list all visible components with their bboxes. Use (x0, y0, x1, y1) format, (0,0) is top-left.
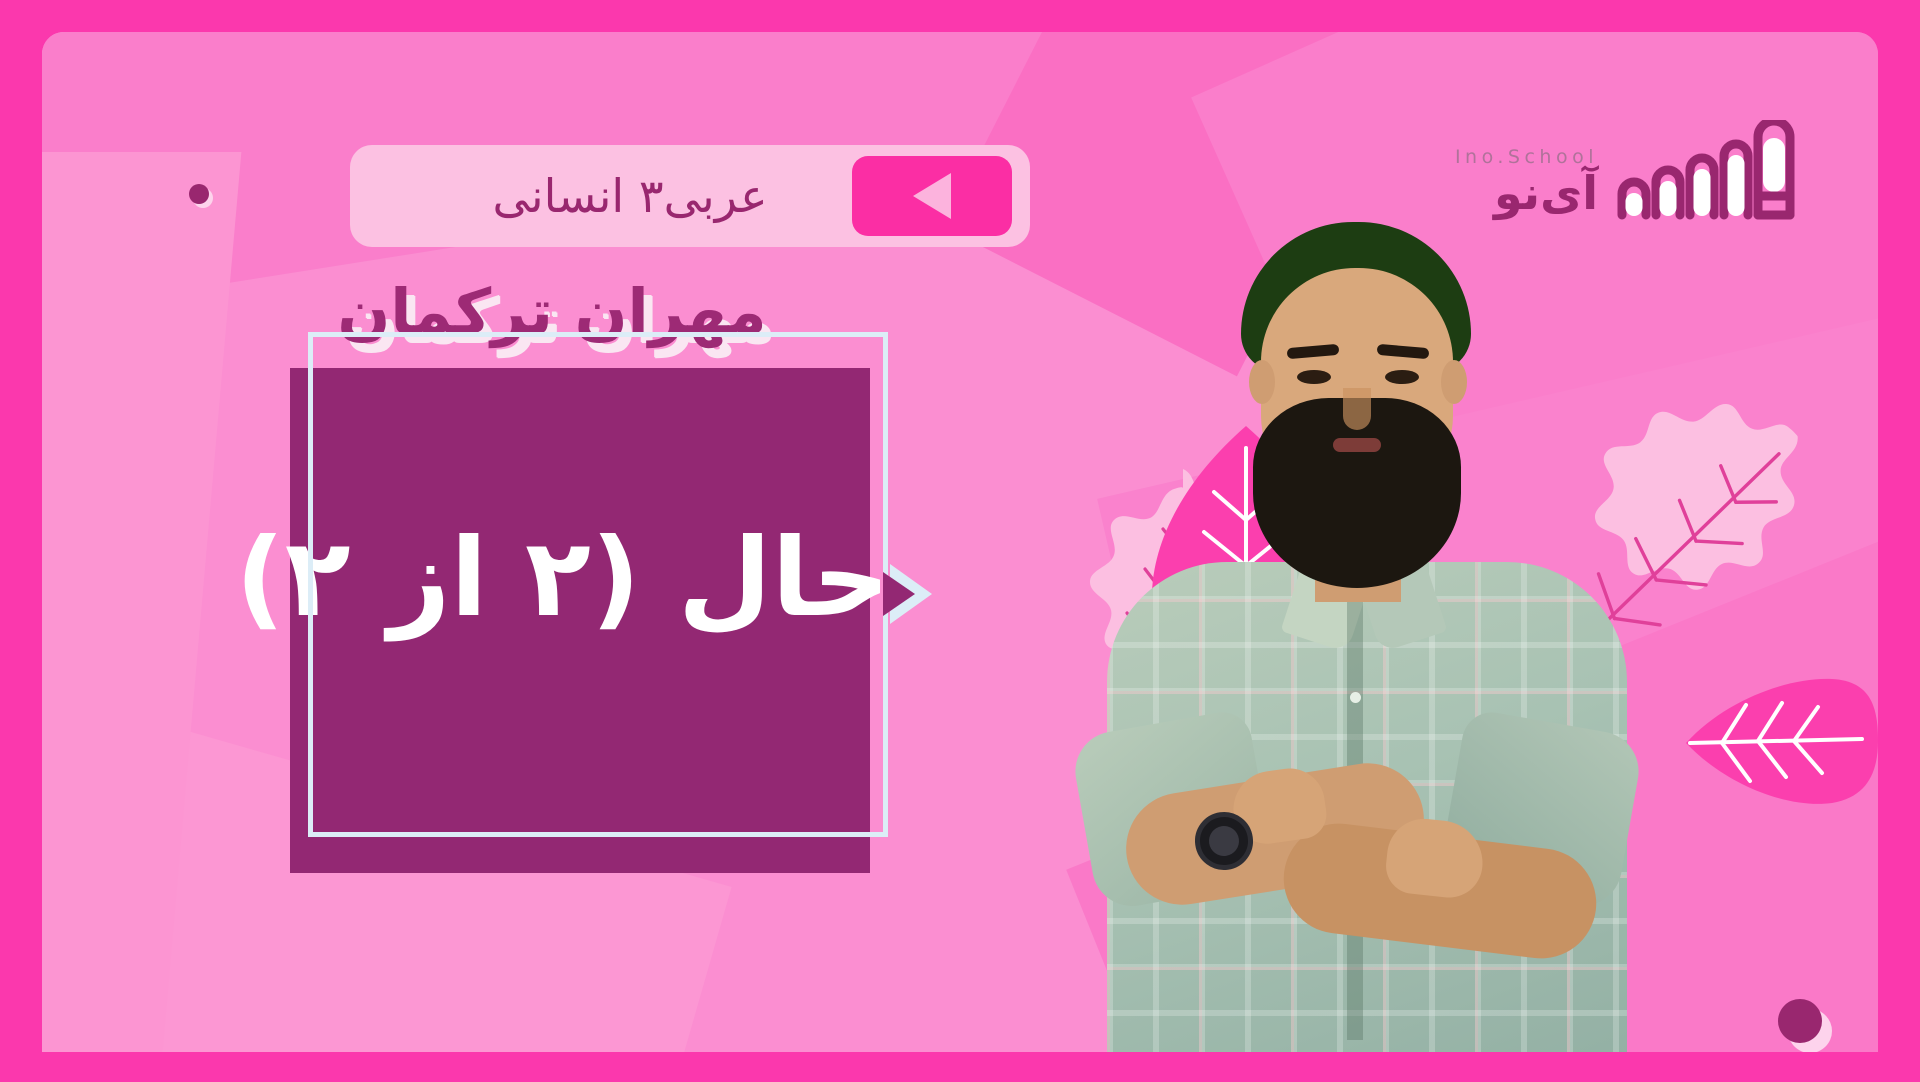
ear-left (1249, 360, 1275, 404)
dot-core (189, 184, 209, 204)
eye-left (1297, 370, 1331, 384)
play-icon (913, 173, 951, 219)
logo-wordmark: Ino.School آی‌نو (1455, 146, 1598, 216)
chevron-right-icon (890, 564, 932, 624)
nose (1343, 388, 1371, 430)
decorative-dot-top-left (189, 184, 209, 204)
logo-name-en: Ino.School (1455, 146, 1598, 168)
pointed-leaf-right-icon (1682, 677, 1878, 807)
inner-panel: عربی۳ انسانی مهران ترکمان حال (۲ از ۲) I… (42, 32, 1878, 1052)
shirt-button (1350, 692, 1361, 703)
dot-core (1778, 999, 1822, 1043)
mouth (1333, 438, 1381, 452)
teacher-portrait (1047, 222, 1707, 1052)
thumbnail-stage: عربی۳ انسانی مهران ترکمان حال (۲ از ۲) I… (0, 0, 1920, 1082)
bar-chart-hand-icon (1608, 120, 1800, 220)
lesson-title-block: حال (۲ از ۲) (290, 332, 890, 877)
eye-right (1385, 370, 1419, 384)
logo-name-fa: آی‌نو (1494, 170, 1598, 216)
decorative-dot-bottom-right (1778, 999, 1822, 1043)
brand-logo[interactable]: Ino.School آی‌نو (1455, 120, 1800, 220)
subject-label: عربی۳ انسانی (362, 169, 852, 223)
ear-right (1441, 360, 1467, 404)
subject-badge[interactable]: عربی۳ انسانی (350, 145, 1030, 247)
page-title: حال (۲ از ۲) (290, 522, 890, 635)
play-button[interactable] (852, 156, 1012, 236)
